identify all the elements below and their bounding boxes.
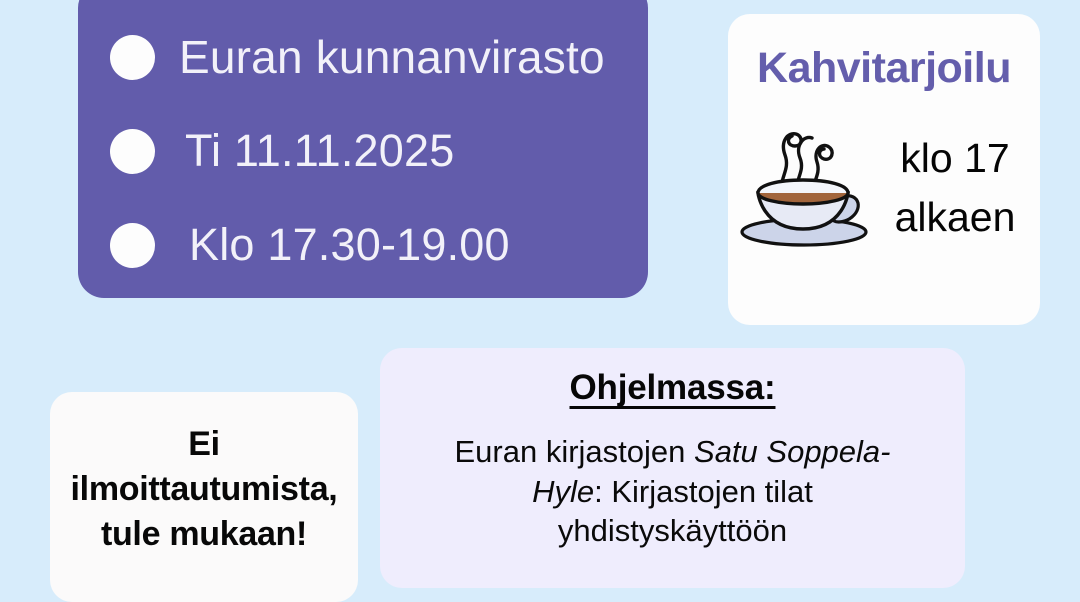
no-registration-line-1: Ei xyxy=(64,422,344,467)
bullet-dot-icon xyxy=(110,129,155,174)
detail-item-date: Ti 11.11.2025 xyxy=(78,104,648,198)
poster-canvas: Euran kunnanvirasto Ti 11.11.2025 Klo 17… xyxy=(0,0,1080,579)
programme-body-before: Euran kirjastojen xyxy=(455,434,695,469)
programme-body: Euran kirjastojen Satu Soppela-Hyle: Kir… xyxy=(422,432,923,551)
programme-title: Ohjelmassa: xyxy=(422,368,923,408)
coffee-service-card: Kahvitarjoilu xyxy=(728,14,1040,325)
no-registration-text: Ei ilmoittautumista, tule mukaan! xyxy=(64,422,344,557)
event-details-card: Euran kunnanvirasto Ti 11.11.2025 Klo 17… xyxy=(78,0,648,298)
no-registration-line-2: ilmoittautumista, xyxy=(64,467,344,512)
coffee-cup-icon xyxy=(736,101,876,261)
no-registration-card: Ei ilmoittautumista, tule mukaan! xyxy=(50,392,358,602)
coffee-time-text: klo 17 alkaen xyxy=(876,129,1040,248)
bullet-dot-icon xyxy=(110,35,155,80)
programme-body-after: : Kirjastojen tilat yhdistyskäyttöön xyxy=(558,474,813,549)
detail-item-location: Euran kunnanvirasto xyxy=(78,10,648,104)
detail-date-label: Ti 11.11.2025 xyxy=(185,127,454,174)
detail-item-time: Klo 17.30-19.00 xyxy=(78,198,648,292)
detail-time-label: Klo 17.30-19.00 xyxy=(189,221,510,268)
bullet-dot-icon xyxy=(110,223,155,268)
coffee-card-body: klo 17 alkaen xyxy=(728,101,1040,261)
programme-card: Ohjelmassa: Euran kirjastojen Satu Soppe… xyxy=(380,348,965,588)
coffee-time-line-1: klo 17 xyxy=(876,129,1034,188)
detail-location-label: Euran kunnanvirasto xyxy=(179,33,605,81)
coffee-time-line-2: alkaen xyxy=(876,188,1034,247)
no-registration-line-3: tule mukaan! xyxy=(64,512,344,557)
coffee-card-title: Kahvitarjoilu xyxy=(728,44,1040,93)
